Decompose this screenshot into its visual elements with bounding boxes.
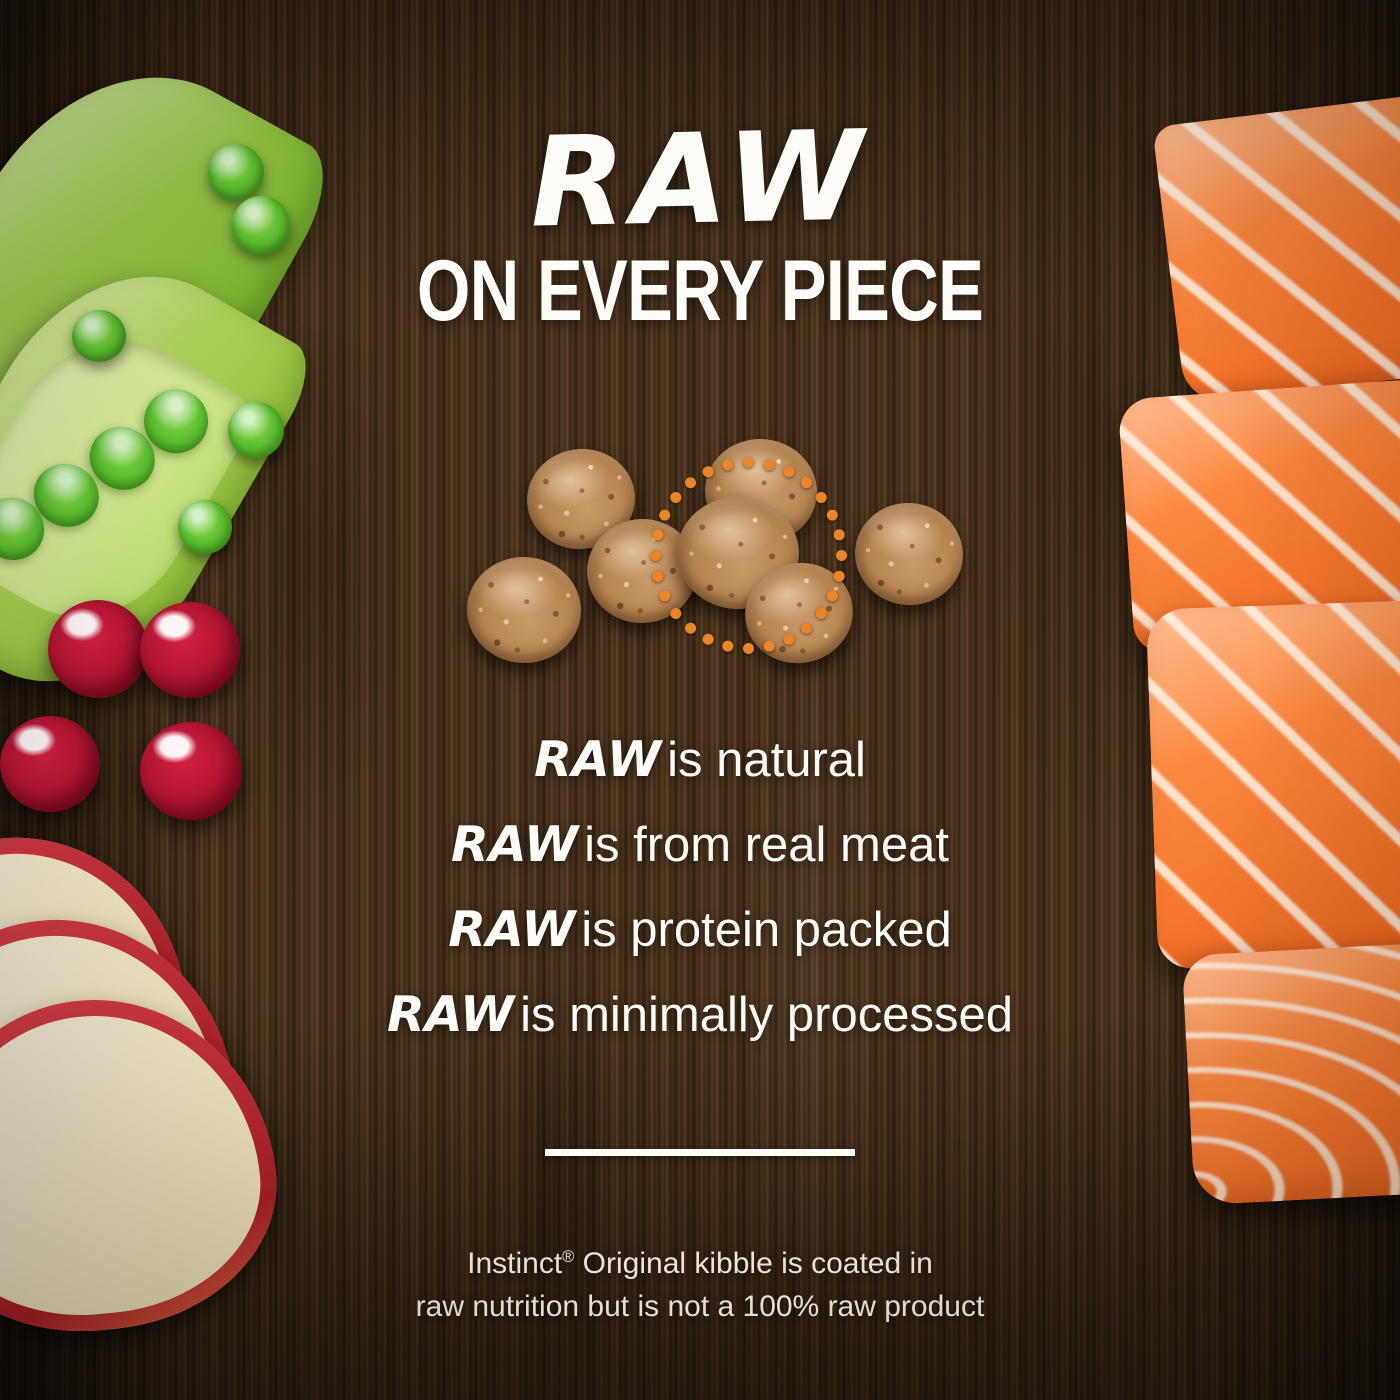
promo-image: RAW ON EVERY PIECE RAWis natural RAWis f… — [0, 0, 1400, 1400]
vignette-overlay — [0, 0, 1400, 1400]
